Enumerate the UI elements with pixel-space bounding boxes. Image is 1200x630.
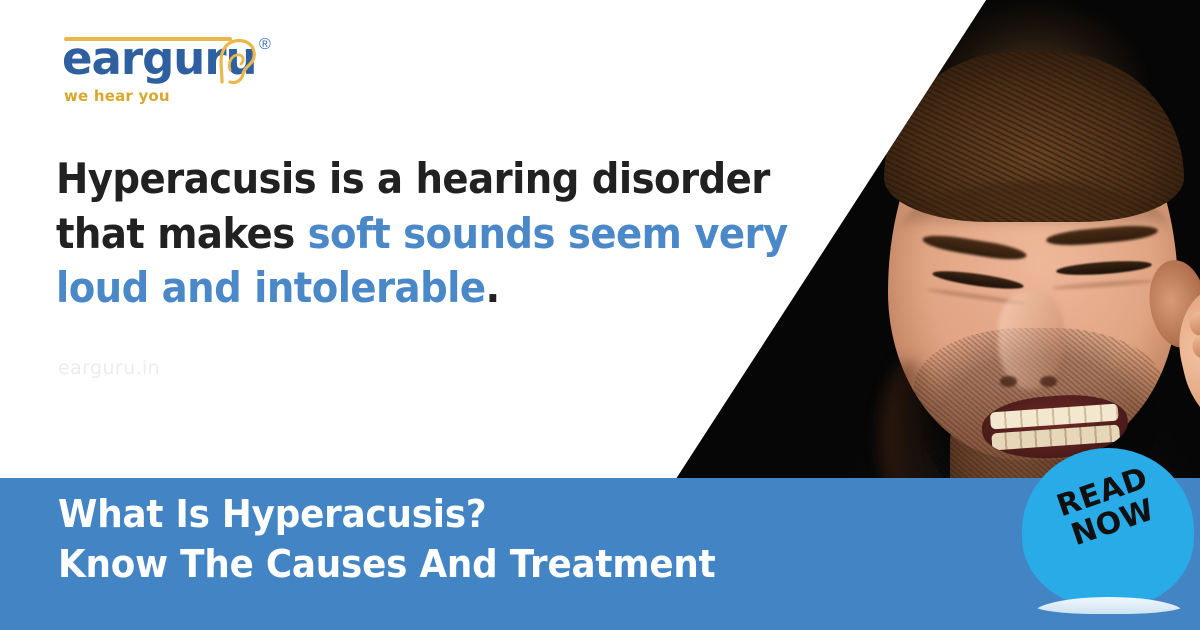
logo-tagline: we hear you [64, 87, 170, 105]
banner-title-line-1: What Is Hyperacusis? [58, 489, 932, 539]
headline: Hyperacusis is a hearing disorder that m… [56, 152, 792, 316]
banner-title: What Is Hyperacusis? Know The Causes And… [58, 489, 932, 589]
teeth-lower [991, 425, 1120, 451]
earguru-logo[interactable]: earguru ® we hear you [56, 30, 286, 102]
hyperacusis-promo-banner: earguru ® we hear you Hyperacusis is a h… [0, 0, 1200, 630]
read-now-button[interactable]: READ NOW [1022, 448, 1194, 616]
bottom-banner: What Is Hyperacusis? Know The Causes And… [0, 478, 1200, 630]
ear-icon [214, 36, 258, 86]
nostril-left [1000, 376, 1017, 387]
headline-period: . [486, 263, 500, 312]
site-watermark: earguru.in [58, 357, 160, 379]
man-head [870, 60, 1200, 490]
banner-title-line-2: Know The Causes And Treatment [58, 539, 932, 589]
nostril-right [1040, 376, 1057, 387]
registered-trademark-icon: ® [259, 36, 271, 54]
